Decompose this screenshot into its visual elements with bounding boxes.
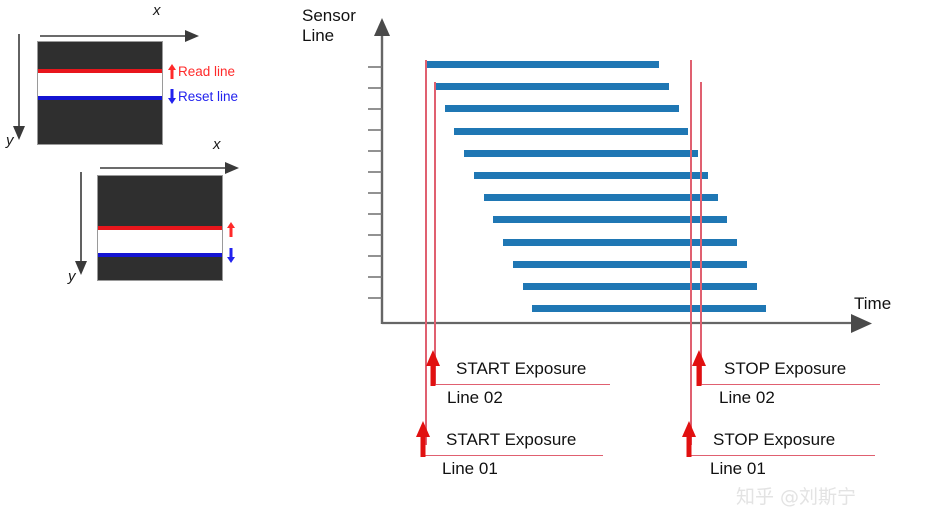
- stop-line-01-connector: [690, 455, 875, 456]
- stop-line-02-sublabel: Line 02: [719, 388, 775, 408]
- stop-line-02-arrow-icon: [691, 350, 707, 386]
- exposure-bar: [464, 150, 698, 157]
- exposure-bar: [425, 61, 659, 68]
- watermark: 知乎 @刘斯宁: [736, 482, 856, 509]
- stop-line-01-arrow-icon: [681, 421, 697, 457]
- start-line-01-label: START Exposure: [446, 430, 576, 450]
- exposure-bar: [493, 216, 727, 223]
- stop-line-01-marker: [690, 60, 692, 445]
- exposure-bar: [503, 239, 737, 246]
- exposure-bar: [484, 194, 718, 201]
- stop-line-01-label: STOP Exposure: [713, 430, 835, 450]
- exposure-bar: [445, 105, 679, 112]
- exposure-bar: [454, 128, 688, 135]
- start-line-02-label: START Exposure: [456, 359, 586, 379]
- exposure-bar: [513, 261, 747, 268]
- exposure-bars-layer: [0, 0, 929, 530]
- exposure-bar: [532, 305, 766, 312]
- start-line-02-sublabel: Line 02: [447, 388, 503, 408]
- stop-line-02-connector: [700, 384, 880, 385]
- stop-line-02-marker: [700, 82, 702, 385]
- start-line-01-arrow-icon: [415, 421, 431, 457]
- exposure-bar: [435, 83, 669, 90]
- start-line-01-sublabel: Line 01: [442, 459, 498, 479]
- start-line-02-marker: [434, 82, 436, 385]
- exposure-bar: [523, 283, 757, 290]
- start-line-02-connector: [434, 384, 610, 385]
- start-line-01-marker: [425, 60, 427, 445]
- stop-line-02-label: STOP Exposure: [724, 359, 846, 379]
- stop-line-01-sublabel: Line 01: [710, 459, 766, 479]
- start-line-02-arrow-icon: [425, 350, 441, 386]
- start-line-01-connector: [425, 455, 603, 456]
- exposure-bar: [474, 172, 708, 179]
- diagram-canvas: x y Read line Reset line x y Sensor Lin: [0, 0, 929, 530]
